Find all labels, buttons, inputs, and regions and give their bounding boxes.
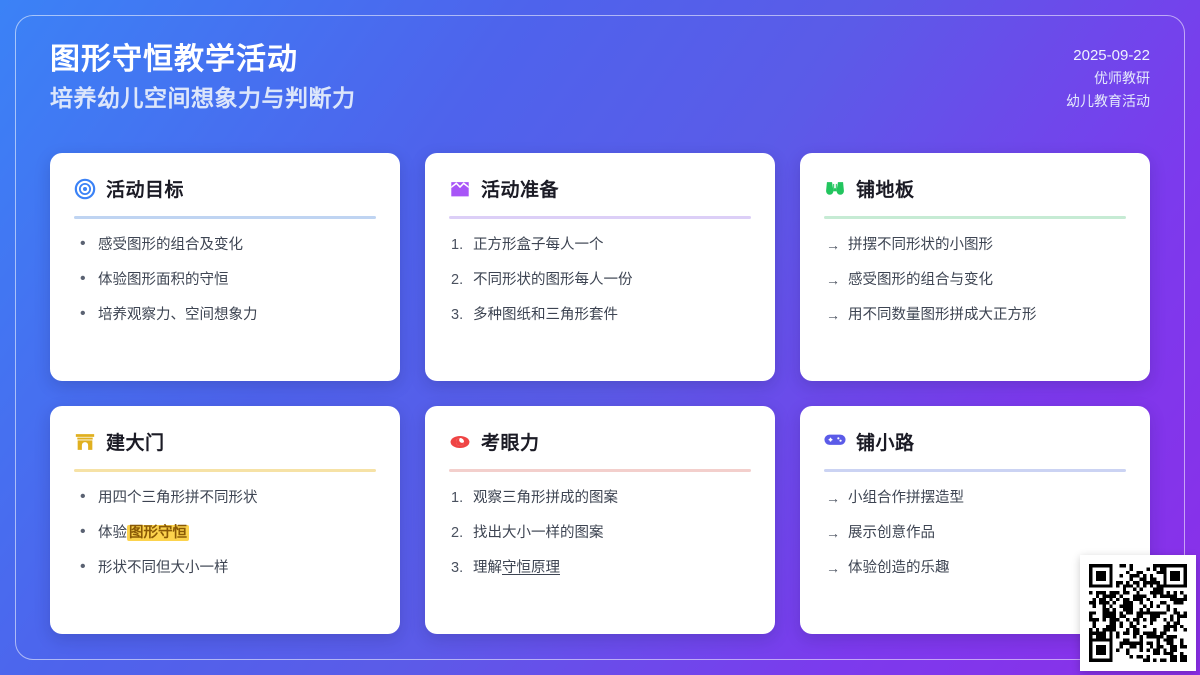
card-title: 考眼力	[481, 428, 540, 455]
header-meta: 2025-09-22 优师教研 幼儿教育活动	[1066, 44, 1150, 113]
list-item: 感受图形的组合与变化	[824, 270, 1126, 290]
gamepad-icon	[824, 431, 846, 453]
list-item: 体验图形守恒	[74, 523, 376, 543]
list-item-text: 体验	[98, 525, 127, 541]
card-divider	[824, 216, 1126, 219]
underlined-term: 守恒原理	[502, 560, 560, 576]
card-header: 考眼力	[449, 428, 751, 455]
list-item-text: 理解	[473, 560, 502, 576]
list-item-text: 体验图形面积的守恒	[98, 272, 229, 288]
gamepad-icon	[824, 431, 846, 449]
binoculars-icon	[824, 178, 846, 200]
list-item: 用不同数量图形拼成大正方形	[824, 305, 1126, 325]
card-build-gate[interactable]: 建大门用四个三角形拼不同形状体验图形守恒形状不同但大小一样	[50, 406, 400, 634]
list-item-text: 用不同数量图形拼成大正方形	[848, 307, 1037, 323]
card-floor-laying[interactable]: 铺地板拼摆不同形状的小图形感受图形的组合与变化用不同数量图形拼成大正方形	[800, 153, 1150, 381]
list-item-text: 体验创造的乐趣	[848, 560, 950, 576]
list-item: 感受图形的组合及变化	[74, 235, 376, 255]
list-item-text: 感受图形的组合及变化	[98, 237, 243, 253]
list-item: 多种图纸和三角形套件	[449, 305, 751, 325]
page-title: 图形守恒教学活动	[50, 40, 1150, 80]
list-item: 体验图形面积的守恒	[74, 270, 376, 290]
header-org: 优师教研	[1066, 67, 1150, 90]
qr-code[interactable]	[1080, 555, 1196, 671]
card-test-eyesight[interactable]: 考眼力观察三角形拼成的图案找出大小一样的图案理解守恒原理	[425, 406, 775, 634]
card-list: 观察三角形拼成的图案找出大小一样的图案理解守恒原理	[449, 488, 751, 578]
list-item: 小组合作拼摆造型	[824, 488, 1126, 508]
list-item-text: 形状不同但大小一样	[98, 560, 229, 576]
card-divider	[74, 469, 376, 472]
card-activity-prep[interactable]: 活动准备正方形盒子每人一个不同形状的图形每人一份多种图纸和三角形套件	[425, 153, 775, 381]
card-grid: 活动目标感受图形的组合及变化体验图形面积的守恒培养观察力、空间想象力活动准备正方…	[50, 153, 1150, 634]
header-date: 2025-09-22	[1066, 44, 1150, 67]
target-icon	[74, 178, 96, 200]
card-title: 建大门	[106, 428, 165, 455]
card-activity-goal[interactable]: 活动目标感受图形的组合及变化体验图形面积的守恒培养观察力、空间想象力	[50, 153, 400, 381]
card-header: 活动目标	[74, 175, 376, 202]
card-divider	[449, 216, 751, 219]
card-list: 拼摆不同形状的小图形感受图形的组合与变化用不同数量图形拼成大正方形	[824, 235, 1126, 325]
gate-icon	[74, 431, 96, 453]
page-subtitle: 培养幼儿空间想象力与判断力	[50, 80, 1150, 116]
list-item: 理解守恒原理	[449, 558, 751, 578]
list-item: 展示创意作品	[824, 523, 1126, 543]
list-item-text: 多种图纸和三角形套件	[473, 307, 618, 323]
box-icon	[449, 178, 471, 200]
list-item: 不同形状的图形每人一份	[449, 270, 751, 290]
eye-icon	[449, 431, 471, 453]
card-header: 活动准备	[449, 175, 751, 202]
list-item: 正方形盒子每人一个	[449, 235, 751, 255]
list-item-text: 拼摆不同形状的小图形	[848, 237, 993, 253]
list-item-text: 正方形盒子每人一个	[473, 237, 604, 253]
list-item-text: 不同形状的图形每人一份	[473, 272, 633, 288]
qr-code-image	[1089, 564, 1187, 662]
gate-icon	[74, 431, 96, 453]
card-divider	[74, 216, 376, 219]
target-icon	[74, 178, 96, 200]
binoculars-icon	[824, 178, 846, 200]
list-item-text: 用四个三角形拼不同形状	[98, 490, 258, 506]
card-title: 活动准备	[481, 175, 559, 202]
page-header: 图形守恒教学活动 培养幼儿空间想象力与判断力 2025-09-22 优师教研 幼…	[50, 40, 1150, 140]
card-title: 活动目标	[106, 175, 184, 202]
list-item: 拼摆不同形状的小图形	[824, 235, 1126, 255]
card-title: 铺地板	[856, 175, 915, 202]
highlighted-term: 图形守恒	[127, 525, 189, 541]
header-category: 幼儿教育活动	[1066, 90, 1150, 113]
card-header: 铺小路	[824, 428, 1126, 455]
list-item-text: 培养观察力、空间想象力	[98, 307, 258, 323]
list-item: 找出大小一样的图案	[449, 523, 751, 543]
list-item-text: 找出大小一样的图案	[473, 525, 604, 541]
card-list: 用四个三角形拼不同形状体验图形守恒形状不同但大小一样	[74, 488, 376, 578]
box-icon	[449, 178, 471, 200]
card-list: 感受图形的组合及变化体验图形面积的守恒培养观察力、空间想象力	[74, 235, 376, 325]
card-list: 正方形盒子每人一个不同形状的图形每人一份多种图纸和三角形套件	[449, 235, 751, 325]
card-divider	[449, 469, 751, 472]
list-item-text: 感受图形的组合与变化	[848, 272, 993, 288]
card-header: 铺地板	[824, 175, 1126, 202]
list-item: 用四个三角形拼不同形状	[74, 488, 376, 508]
card-title: 铺小路	[856, 428, 915, 455]
list-item: 观察三角形拼成的图案	[449, 488, 751, 508]
list-item-text: 展示创意作品	[848, 525, 935, 541]
eye-icon	[449, 431, 471, 453]
card-divider	[824, 469, 1126, 472]
list-item-text: 小组合作拼摆造型	[848, 490, 964, 506]
list-item-text: 观察三角形拼成的图案	[473, 490, 618, 506]
list-item: 培养观察力、空间想象力	[74, 305, 376, 325]
card-header: 建大门	[74, 428, 376, 455]
list-item: 形状不同但大小一样	[74, 558, 376, 578]
